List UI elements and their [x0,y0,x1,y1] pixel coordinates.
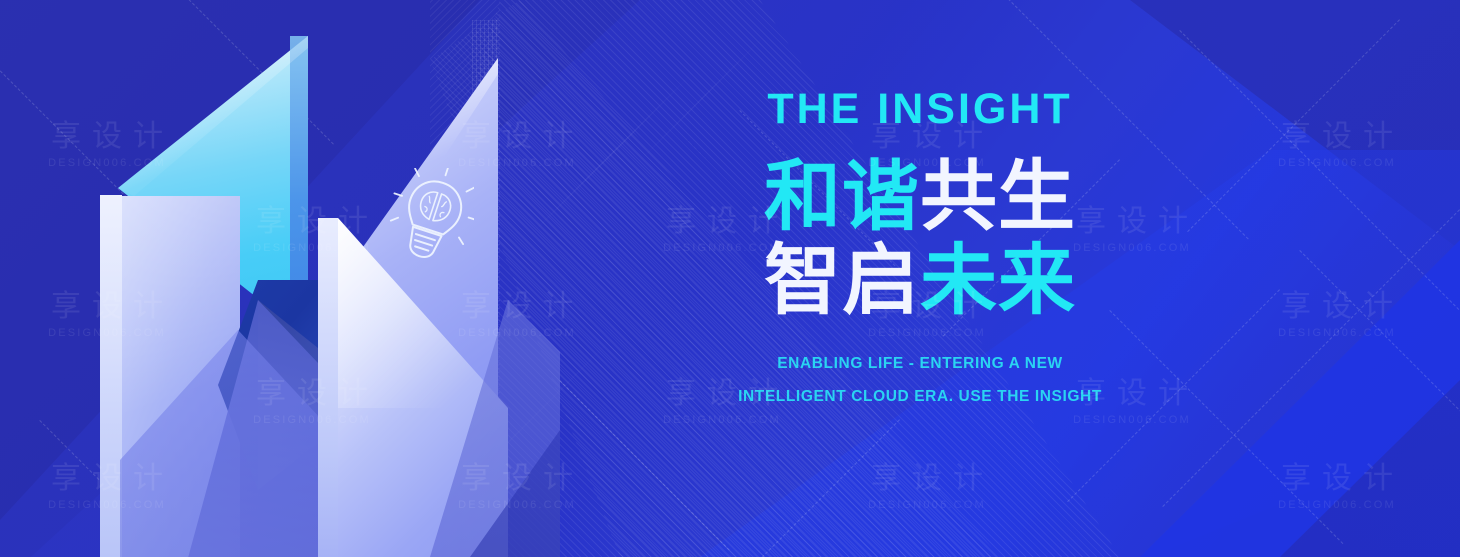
subtitle-line-2: INTELLIGENT CLOUD ERA. USE THE INSIGHT [738,389,1102,405]
headline-line-1-cyan: 和谐 [764,154,920,240]
isometric-sculpture [0,0,560,557]
headline-line-2: 智启未来 [764,241,1076,323]
promotional-banner: THE INSIGHT 和谐共生 智启未来 ENABLING LIFE - EN… [0,0,1460,557]
headline-line-2-cyan: 未来 [920,238,1076,324]
headline-line-2-white: 智启 [764,238,920,324]
right-pillar-edge [318,218,338,557]
headline-block: THE INSIGHT 和谐共生 智启未来 ENABLING LIFE - EN… [640,0,1200,557]
headline-line-1-white: 共生 [920,154,1076,240]
kicker-text: THE INSIGHT [767,88,1072,131]
headline-line-1: 和谐共生 [764,157,1076,239]
lightbulb-brain-icon [388,168,474,272]
left-pillar-edge [100,195,122,557]
subtitle-line-1: ENABLING LIFE - ENTERING A NEW [777,356,1063,372]
